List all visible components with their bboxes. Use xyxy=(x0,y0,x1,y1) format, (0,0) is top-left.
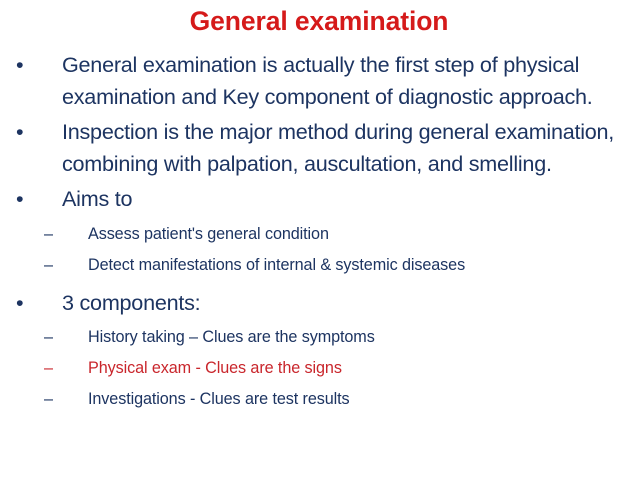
sub-list-item: – Detect manifestations of internal & sy… xyxy=(0,250,638,281)
dash-icon: – xyxy=(44,384,60,415)
slide: General examination • General examinatio… xyxy=(0,0,638,479)
bullet-dot-icon: • xyxy=(16,287,30,319)
sub-list-components: – History taking – Clues are the symptom… xyxy=(0,322,638,415)
dash-icon: – xyxy=(44,322,60,353)
sub-list-item: – History taking – Clues are the symptom… xyxy=(0,322,638,353)
sub-list-item-highlighted: – Physical exam - Clues are the signs xyxy=(0,353,638,384)
list-item: • Aims to xyxy=(0,183,638,215)
list-item: • General examination is actually the fi… xyxy=(0,49,638,112)
list-item: • 3 components: xyxy=(0,287,638,319)
sub-list-item: – Investigations - Clues are test result… xyxy=(0,384,638,415)
sub-list-item-label: Detect manifestations of internal & syst… xyxy=(88,250,632,281)
sub-list-item-label: History taking – Clues are the symptoms xyxy=(88,322,632,353)
dash-icon: – xyxy=(44,219,60,250)
sub-list-item-label: Physical exam - Clues are the signs xyxy=(88,353,632,384)
sub-list-item-label: Assess patient's general condition xyxy=(88,219,632,250)
bullet-dot-icon: • xyxy=(16,49,30,81)
sub-list-item: – Assess patient's general condition xyxy=(0,219,638,250)
list-item-label: Aims to xyxy=(62,183,632,215)
slide-body-list: • General examination is actually the fi… xyxy=(0,49,638,415)
dash-icon: – xyxy=(44,250,60,281)
sub-list-item-label: Investigations - Clues are test results xyxy=(88,384,632,415)
page-title: General examination xyxy=(0,6,638,37)
list-item-label: 3 components: xyxy=(62,287,632,319)
list-item-label: Inspection is the major method during ge… xyxy=(62,116,632,179)
bullet-dot-icon: • xyxy=(16,116,30,148)
bullet-dot-icon: • xyxy=(16,183,30,215)
dash-icon: – xyxy=(44,353,60,384)
sub-list-aims: – Assess patient's general condition – D… xyxy=(0,219,638,281)
list-item-label: General examination is actually the firs… xyxy=(62,49,632,112)
list-item: • Inspection is the major method during … xyxy=(0,116,638,179)
